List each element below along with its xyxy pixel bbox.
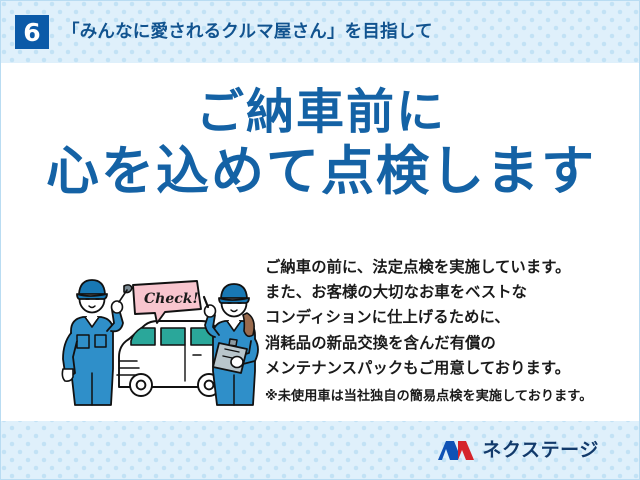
body-copy-line-4: 消耗品の新品交換を含んだ有償の xyxy=(265,331,617,356)
headline: ご納車前に 心を込めて点検します xyxy=(1,85,640,202)
content-panel: ご納車前に 心を込めて点検します ご納車の前に、法定点検を実施しています。 また… xyxy=(1,63,640,421)
headline-line-2: 心を込めて点検します xyxy=(1,141,640,202)
body-copy: ご納車の前に、法定点検を実施しています。 また、お客様の大切なお車をベストな コ… xyxy=(265,255,617,408)
body-copy-line-2: また、お客様の大切なお車をベストな xyxy=(265,280,617,305)
body-copy-line-3: コンディションに仕上げるために、 xyxy=(265,305,617,330)
header-title: 「みんなに愛されるクルマ屋さん」を目指して xyxy=(62,23,433,41)
body-copy-line-1: ご納車の前に、法定点検を実施しています。 xyxy=(265,255,617,280)
speech-bubble-text: Check! xyxy=(144,291,199,307)
check-speech-bubble: Check! xyxy=(133,281,201,323)
banner-header: 6 「みんなに愛されるクルマ屋さん」を目指して xyxy=(1,1,640,63)
headline-line-1: ご納車前に xyxy=(1,85,640,141)
step-number-badge: 6 xyxy=(15,15,49,49)
brand-name: ネクステージ xyxy=(482,441,599,460)
mechanics-illustration: Check! xyxy=(61,269,266,407)
body-copy-note: ※未使用車は当社独自の簡易点検を実施しております。 xyxy=(265,386,617,408)
body-copy-line-5: メンテナンスパックもご用意しております。 xyxy=(265,356,617,381)
banner-footer: ネクステージ xyxy=(1,421,640,479)
promo-banner: 6 「みんなに愛されるクルマ屋さん」を目指して ご納車前に 心を込めて点検します… xyxy=(0,0,640,480)
nextage-n-logo-icon xyxy=(437,439,475,462)
brand-lockup: ネクステージ xyxy=(437,439,599,462)
